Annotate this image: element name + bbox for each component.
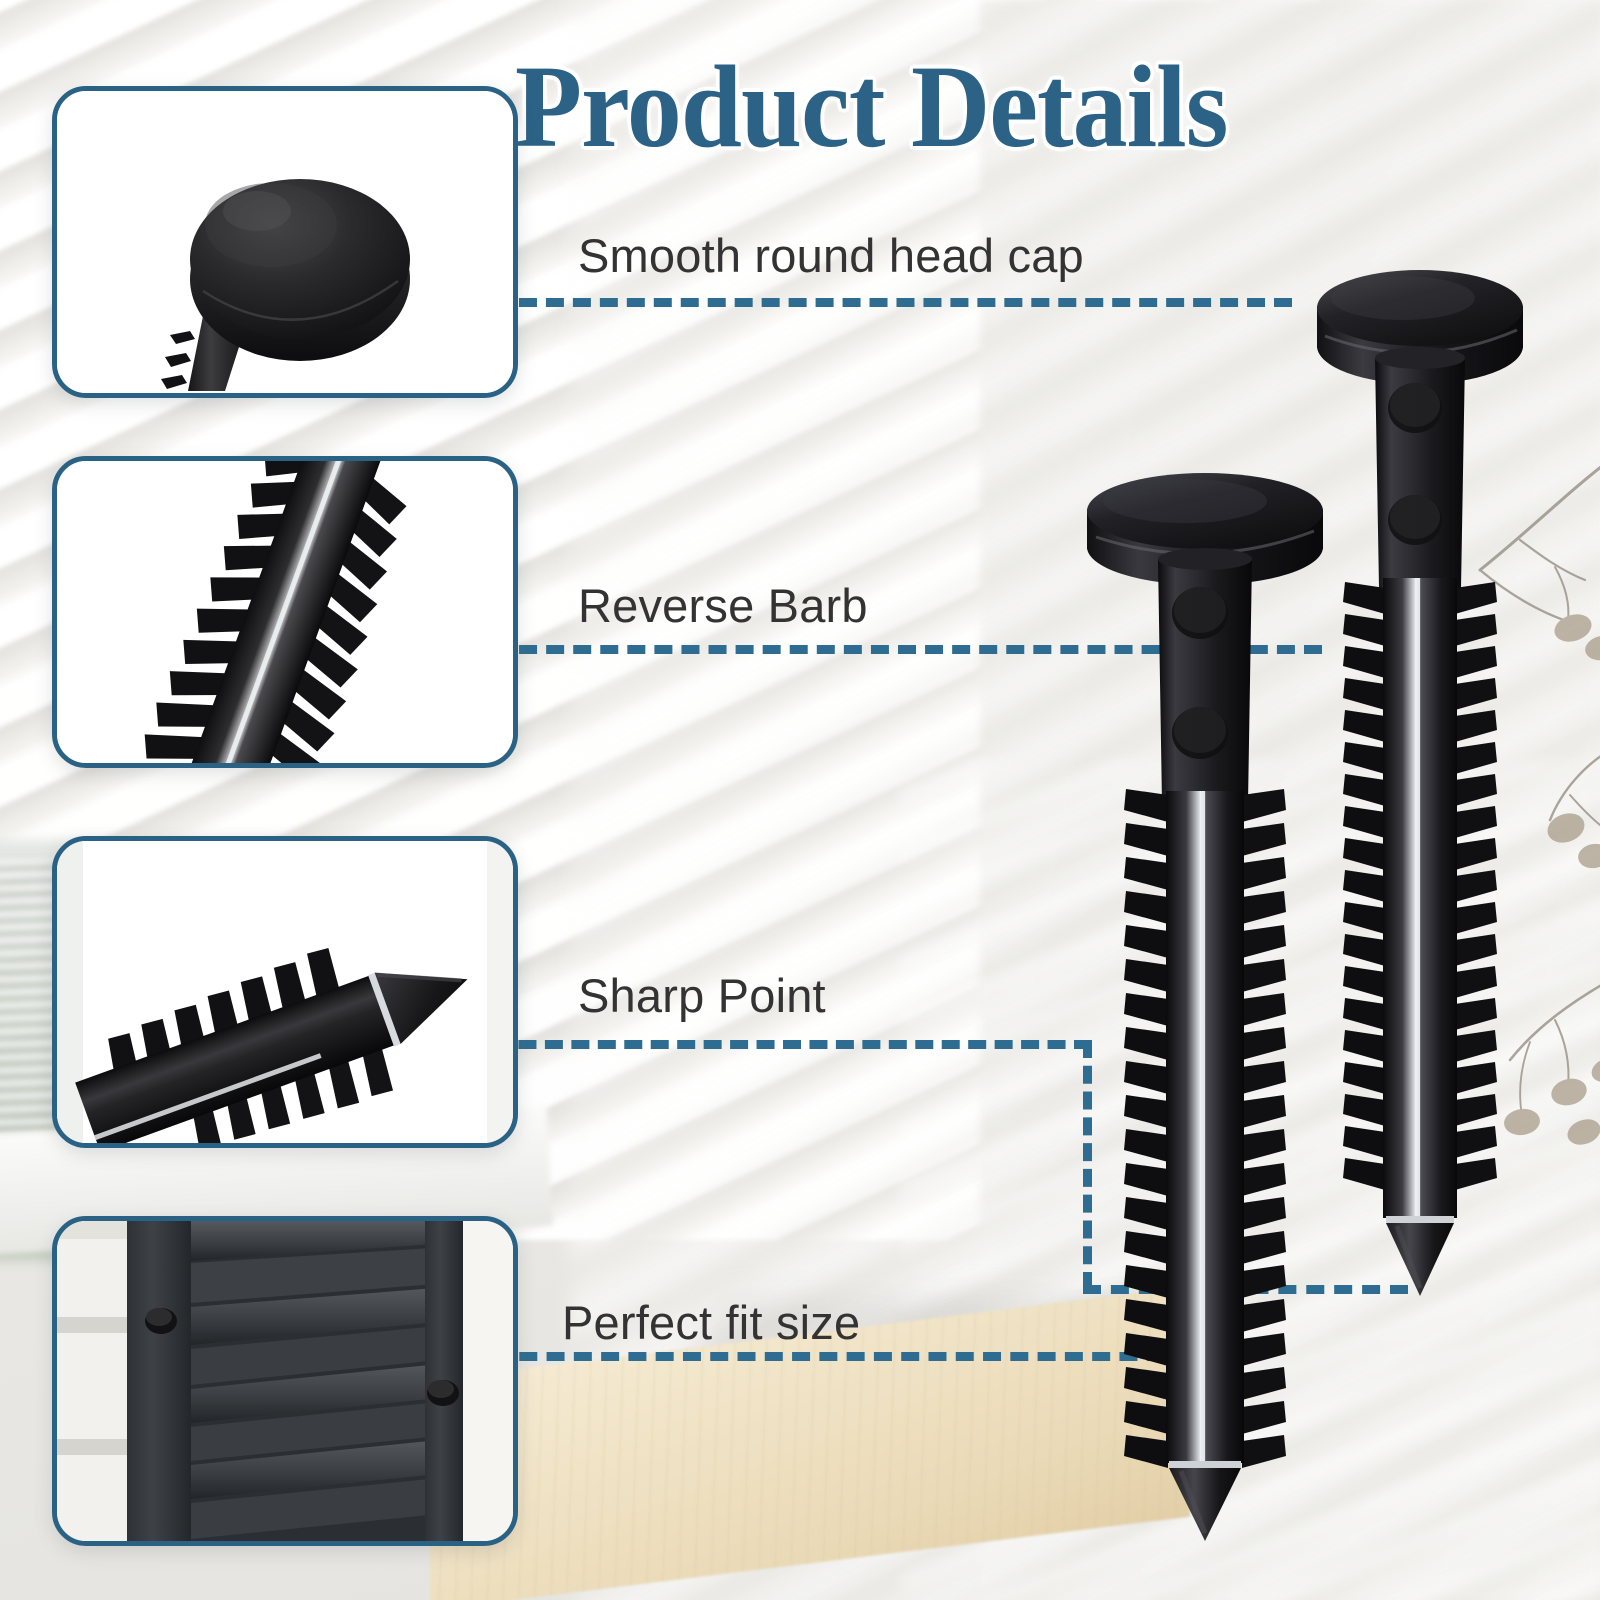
head-cap-closeup-image bbox=[57, 91, 513, 393]
connector-line-smooth-round-head-cap bbox=[492, 298, 1292, 307]
page-title: Product Details bbox=[515, 48, 1529, 166]
callout-label-sharp-point: Sharp Point bbox=[578, 968, 826, 1023]
installed-nail-cap bbox=[427, 1380, 459, 1406]
thumbnail-card-perfect-fit-size[interactable] bbox=[52, 1216, 518, 1546]
thumbnail-card-reverse-barb[interactable] bbox=[52, 456, 518, 768]
thumbnail-card-smooth-round-head-cap[interactable] bbox=[52, 86, 518, 398]
reverse-barb-closeup-image bbox=[57, 461, 513, 763]
product-details-infographic: Product Details Smooth round head cap Re… bbox=[0, 0, 1600, 1600]
callout-label-perfect-fit-size: Perfect fit size bbox=[562, 1295, 860, 1350]
connector-line-sharp-point-horizontal bbox=[492, 1040, 1092, 1049]
sharp-point-closeup-image bbox=[57, 841, 513, 1143]
product-nail-short-image bbox=[1040, 455, 1370, 1545]
callout-label-smooth-round-head-cap: Smooth round head cap bbox=[578, 228, 1084, 283]
installed-nail-cap bbox=[145, 1308, 177, 1334]
callout-label-reverse-barb: Reverse Barb bbox=[578, 578, 868, 633]
thumbnail-card-sharp-point[interactable] bbox=[52, 836, 518, 1148]
installed-shutter-image bbox=[57, 1221, 513, 1541]
product-nail-short bbox=[1040, 455, 1370, 1545]
